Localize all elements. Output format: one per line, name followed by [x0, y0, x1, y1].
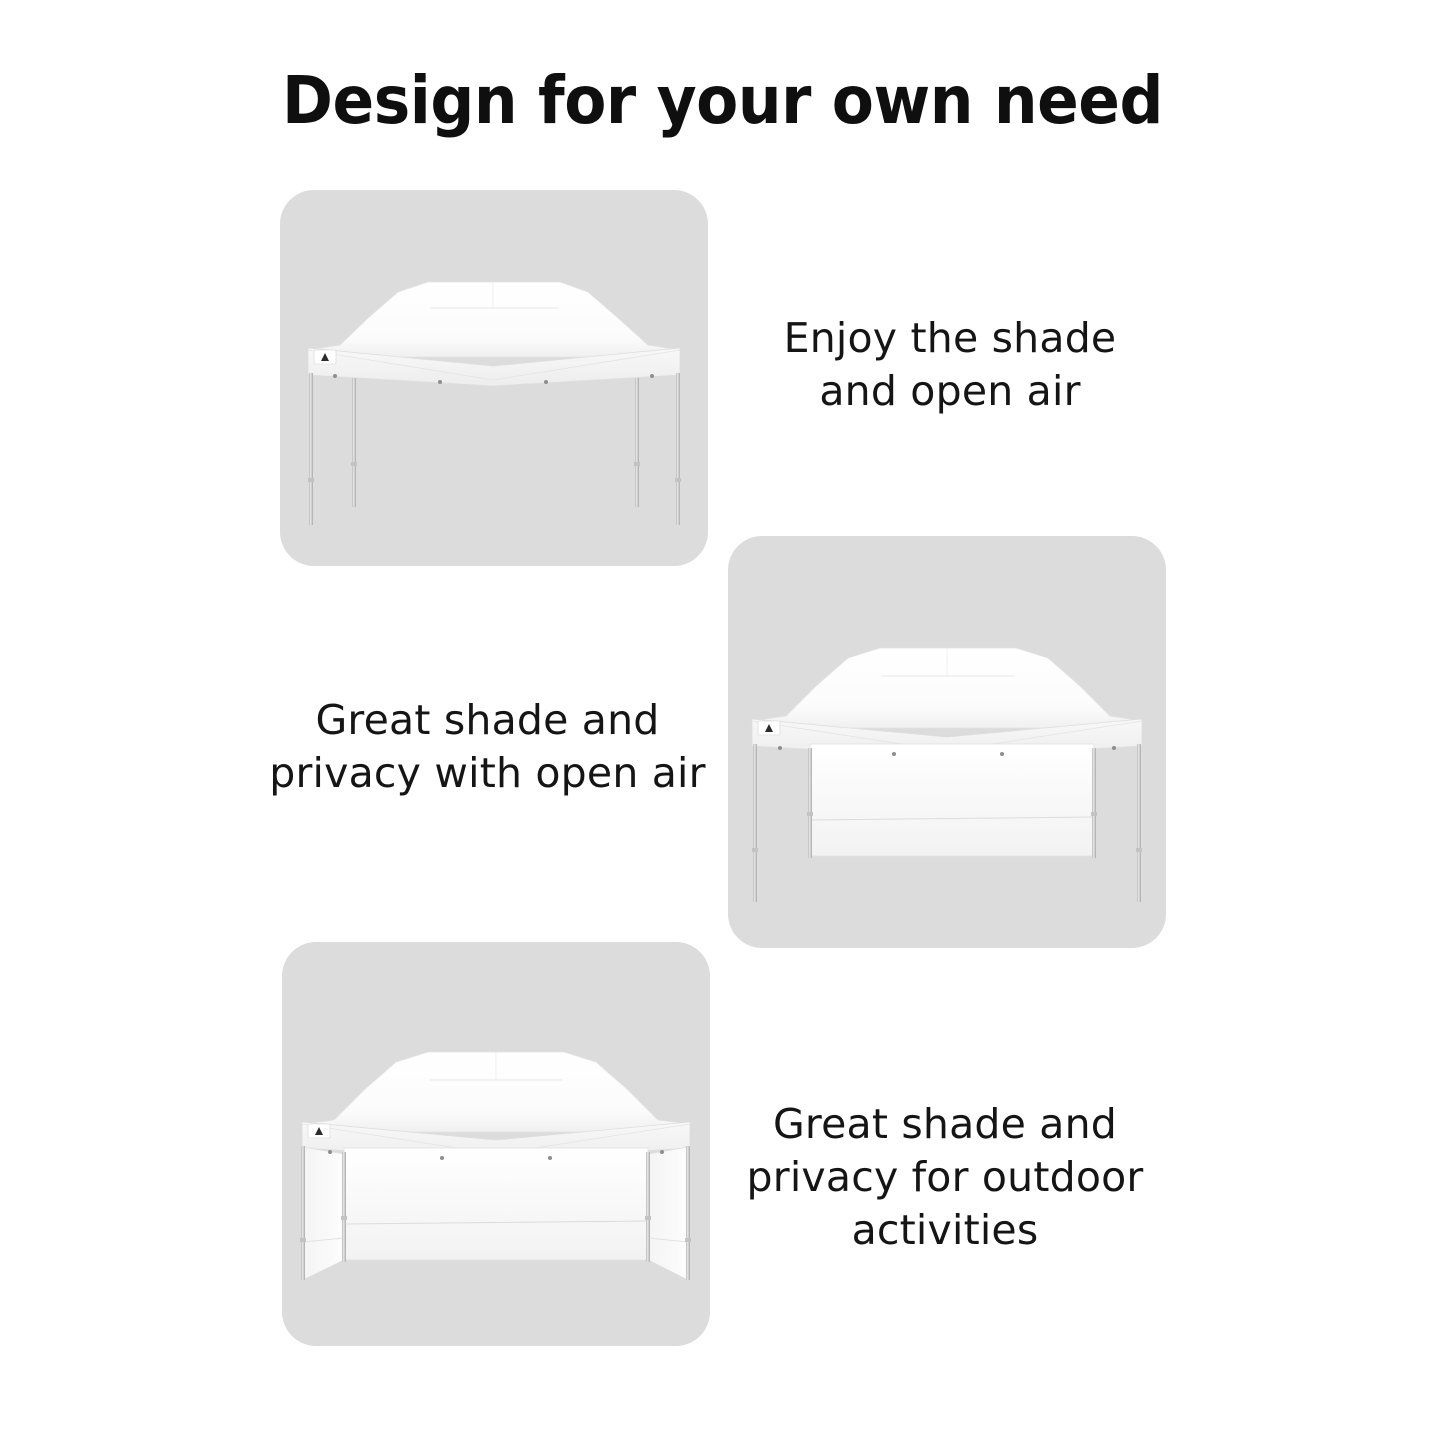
frame-connector — [892, 752, 896, 756]
leg-joint — [634, 462, 640, 466]
canopy-no-walls-illustration — [280, 190, 708, 566]
feature-image-panel-three-walls — [282, 942, 710, 1346]
canopy-one-wall-illustration — [728, 536, 1166, 948]
leg-joint — [308, 478, 314, 482]
leg-joint — [1136, 848, 1142, 852]
frame-connector — [650, 374, 654, 378]
canopy-side-wall-back — [344, 1148, 648, 1260]
canopy-leg-back-left — [342, 1152, 346, 1262]
caption-line: privacy for outdoor — [740, 1151, 1150, 1204]
feature-image-panel-one-wall — [728, 536, 1166, 948]
leg-joint — [807, 812, 813, 816]
canopy-side-wall-right — [648, 1147, 688, 1280]
caption-line: privacy with open air — [265, 747, 710, 800]
frame-connector — [548, 1156, 552, 1160]
caption-line: Great shade and — [740, 1098, 1150, 1151]
canopy-leg-back-right — [635, 378, 639, 507]
leg-joint — [645, 1216, 651, 1220]
feature-caption-one-wall: Great shade and privacy with open air — [265, 694, 710, 800]
canopy-leg-back-right — [1092, 748, 1096, 858]
leg-joint — [341, 1216, 347, 1220]
canopy-leg-back-right — [646, 1152, 650, 1262]
frame-connector — [438, 380, 442, 384]
canopy-roof — [308, 282, 680, 357]
frame-connector — [1000, 752, 1004, 756]
leg-joint — [351, 462, 357, 466]
canopy-side-wall-left — [303, 1147, 344, 1280]
frame-connector — [1112, 746, 1116, 750]
frame-connector — [333, 374, 337, 378]
canopy-leg-front-right — [686, 1146, 690, 1280]
frame-connector — [660, 1150, 664, 1154]
canopy-leg-front-left — [309, 373, 313, 525]
leg-joint — [300, 1238, 306, 1242]
canopy-side-wall-back — [810, 744, 1094, 856]
caption-line: and open air — [745, 365, 1155, 418]
canopy-leg-front-right — [676, 373, 680, 525]
frame-connector — [328, 1150, 332, 1154]
caption-line: activities — [740, 1204, 1150, 1257]
frame-connector — [778, 746, 782, 750]
feature-caption-three-walls: Great shade and privacy for outdoor acti… — [740, 1098, 1150, 1257]
frame-connector — [544, 380, 548, 384]
page-title: Design for your own need — [51, 62, 1395, 140]
frame-connector — [440, 1156, 444, 1160]
canopy-leg-front-right — [1137, 744, 1141, 902]
canopy-leg-back-left — [352, 378, 356, 507]
canopy-leg-front-left — [753, 744, 757, 902]
caption-line: Great shade and — [265, 694, 710, 747]
leg-joint — [675, 478, 681, 482]
feature-caption-open-air: Enjoy the shade and open air — [745, 312, 1155, 418]
canopy-leg-back-left — [808, 748, 812, 858]
leg-joint — [685, 1238, 691, 1242]
canopy-three-walls-illustration — [282, 942, 710, 1346]
leg-joint — [1091, 812, 1097, 816]
leg-joint — [752, 848, 758, 852]
canopy-leg-front-left — [301, 1146, 305, 1280]
caption-line: Enjoy the shade — [745, 312, 1155, 365]
feature-image-panel-open-air — [280, 190, 708, 566]
